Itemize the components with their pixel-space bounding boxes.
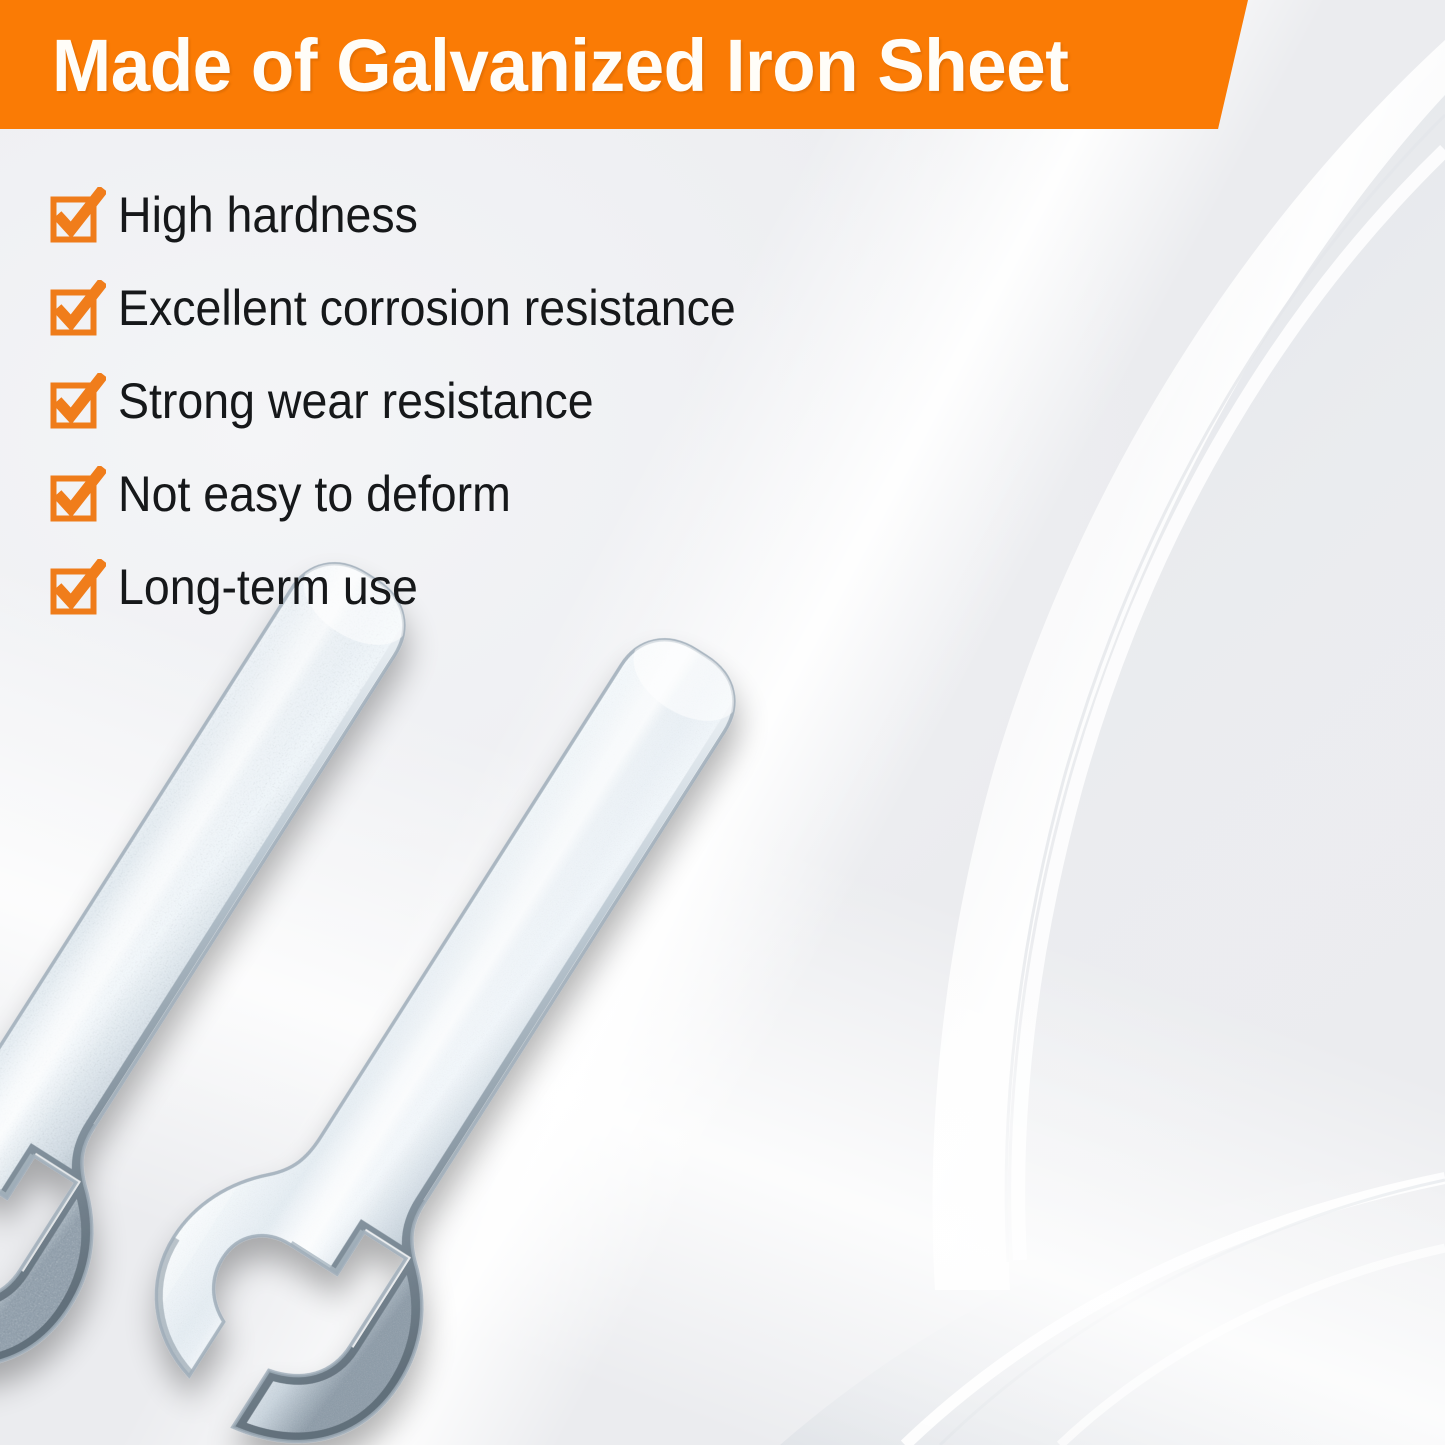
checkbox-checked-icon bbox=[50, 373, 106, 429]
feature-list: High hardness Excellent corrosion resist… bbox=[50, 168, 1050, 633]
checkbox-checked-icon bbox=[50, 280, 106, 336]
checkbox-checked-icon bbox=[50, 187, 106, 243]
feature-item: High hardness bbox=[50, 168, 1050, 261]
feature-label: Strong wear resistance bbox=[118, 373, 594, 429]
feature-label: Long-term use bbox=[118, 559, 418, 615]
feature-label: Excellent corrosion resistance bbox=[118, 280, 736, 336]
checkbox-checked-icon bbox=[50, 559, 106, 615]
page-title: Made of Galvanized Iron Sheet bbox=[52, 20, 1068, 112]
feature-item: Long-term use bbox=[50, 540, 1050, 633]
feature-item: Excellent corrosion resistance bbox=[50, 261, 1050, 354]
checkbox-checked-icon bbox=[50, 466, 106, 522]
feature-label: Not easy to deform bbox=[118, 466, 511, 522]
wrench-front bbox=[72, 565, 828, 1445]
header-banner: Made of Galvanized Iron Sheet bbox=[0, 0, 1248, 129]
product-feature-image: Made of Galvanized Iron Sheet High hardn… bbox=[0, 0, 1445, 1445]
feature-item: Strong wear resistance bbox=[50, 354, 1050, 447]
feature-label: High hardness bbox=[118, 187, 418, 243]
feature-item: Not easy to deform bbox=[50, 447, 1050, 540]
